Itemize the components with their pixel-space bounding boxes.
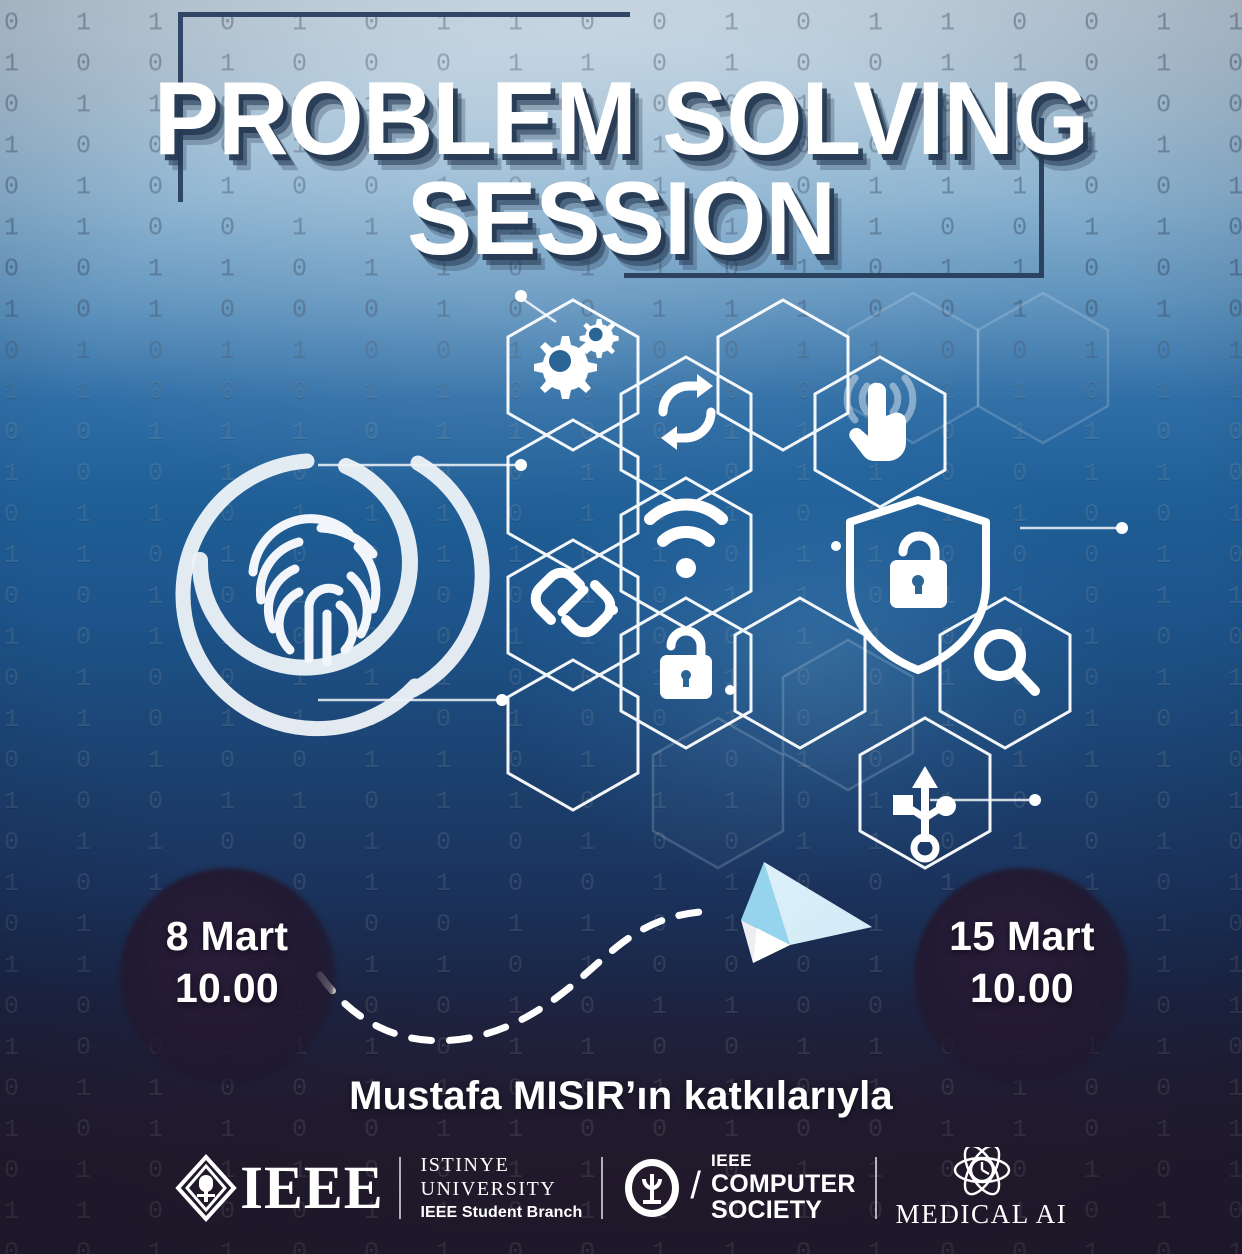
istinye-line-1: ISTINYE (420, 1153, 582, 1177)
atom-orbital-icon (951, 1147, 1013, 1197)
dashed-connector-path (320, 912, 700, 1041)
title-line-1: PROBLEM SOLVING (37, 72, 1204, 168)
ieee-diamond-icon (175, 1154, 237, 1222)
usb-icon (893, 766, 956, 859)
date-right-time: 10.00 (892, 962, 1152, 1014)
title-line-2: SESSION (37, 172, 1204, 268)
search-magnifier-icon (979, 634, 1035, 691)
cs-line-3: SOCIETY (711, 1197, 856, 1224)
istinye-line-3: IEEE Student Branch (420, 1203, 582, 1222)
cs-slash: / (690, 1165, 701, 1208)
logo-istinye-university: ISTINYE UNIVERSITY IEEE Student Branch (401, 1151, 601, 1225)
date-badge-left: 8 Mart 10.00 (97, 910, 357, 1014)
wifi-dot (676, 558, 696, 578)
cs-line-1: IEEE (711, 1152, 856, 1170)
medical-ai-wordmark: MEDICAL AI (896, 1199, 1068, 1230)
padlock-icon (660, 631, 712, 699)
paper-plane-icon (741, 862, 872, 963)
istinye-line-2: UNIVERSITY (420, 1177, 582, 1201)
shield-lock-icon (850, 500, 986, 670)
sync-refresh-arrows (661, 374, 713, 450)
wifi-icon (650, 505, 722, 541)
date-badge-right: 15 Mart 10.00 (892, 910, 1152, 1014)
link-chain-icon (536, 573, 611, 633)
date-right-day: 15 Mart (892, 910, 1152, 962)
page-title: PROBLEM SOLVING SESSION (0, 72, 1242, 267)
sponsor-logo-row: IEEE ISTINYE UNIVERSITY IEEE Student Bra… (0, 1140, 1242, 1236)
fingerprint-icon (183, 461, 482, 729)
speaker-credit-line: Mustafa MISIR’ın katkılarıyla (0, 1074, 1242, 1119)
date-left-day: 8 Mart (97, 910, 357, 962)
cs-line-2: COMPUTER (711, 1171, 856, 1198)
logo-ieee-computer-society: / IEEE COMPUTER SOCIETY (603, 1151, 874, 1225)
poster-canvas: 0 1 1 0 1 0 1 1 0 0 1 0 1 1 0 0 1 1 1 0 … (0, 0, 1242, 1254)
date-left-time: 10.00 (97, 962, 357, 1014)
logo-medical-ai: MEDICAL AI (877, 1151, 1087, 1225)
ieee-cs-circle-icon (622, 1157, 682, 1219)
gears-icon (534, 319, 619, 399)
ieee-wordmark: IEEE (240, 1157, 383, 1219)
center-glow-overlay (373, 351, 1242, 953)
sync-refresh-icon (663, 386, 711, 438)
touch-tap-icon (847, 378, 913, 461)
logo-ieee: IEEE (156, 1151, 400, 1225)
